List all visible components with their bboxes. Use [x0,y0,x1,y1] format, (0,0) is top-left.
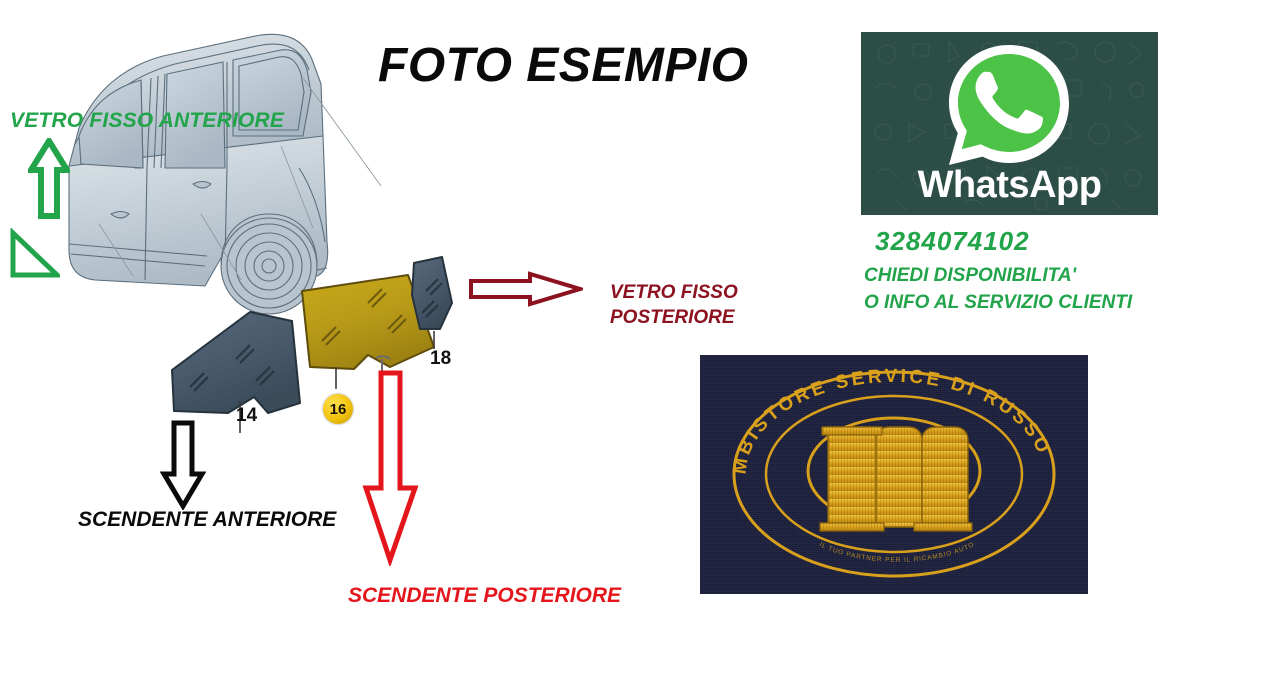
part-number-badge-16: 16 [323,394,353,424]
shop-logo-monogram [820,427,972,531]
arrow-down-black-icon [160,420,206,510]
label-scendente-anteriore: SCENDENTE ANTERIORE [78,508,336,532]
shop-logo-banner: MRICAMBISTORE SERVICE DI RUSSO MARCO IL … [700,355,1088,594]
arrow-right-darkred-icon [468,270,583,308]
triangle-green-icon [8,228,60,280]
page-title: FOTO ESEMPIO [378,38,749,93]
contact-line-2: O INFO AL SERVIZIO CLIENTI [864,292,1132,314]
arrow-up-green-icon [28,138,70,220]
part-number-14: 14 [236,405,257,427]
phone-number[interactable]: 3284074102 [875,226,1030,257]
whatsapp-logo-icon [945,41,1073,169]
whatsapp-banner[interactable]: WhatsApp [861,32,1158,215]
part-number-18: 18 [430,348,451,370]
label-scendente-posteriore: SCENDENTE POSTERIORE [348,584,621,608]
label-vetro-fisso-posteriore: VETRO FISSO POSTERIORE [610,280,738,330]
contact-line-1: CHIEDI DISPONIBILITA' [864,265,1076,287]
whatsapp-wordmark: WhatsApp [861,164,1158,207]
arrow-down-red-icon [362,370,420,566]
label-vetro-fisso-posteriore-line1: VETRO FISSO [610,280,738,305]
shop-logo-emblem: MRICAMBISTORE SERVICE DI RUSSO MARCO IL … [700,355,1088,594]
label-vetro-fisso-anteriore: VETRO FISSO ANTERIORE [10,109,284,133]
label-vetro-fisso-posteriore-line2: POSTERIORE [610,305,738,330]
